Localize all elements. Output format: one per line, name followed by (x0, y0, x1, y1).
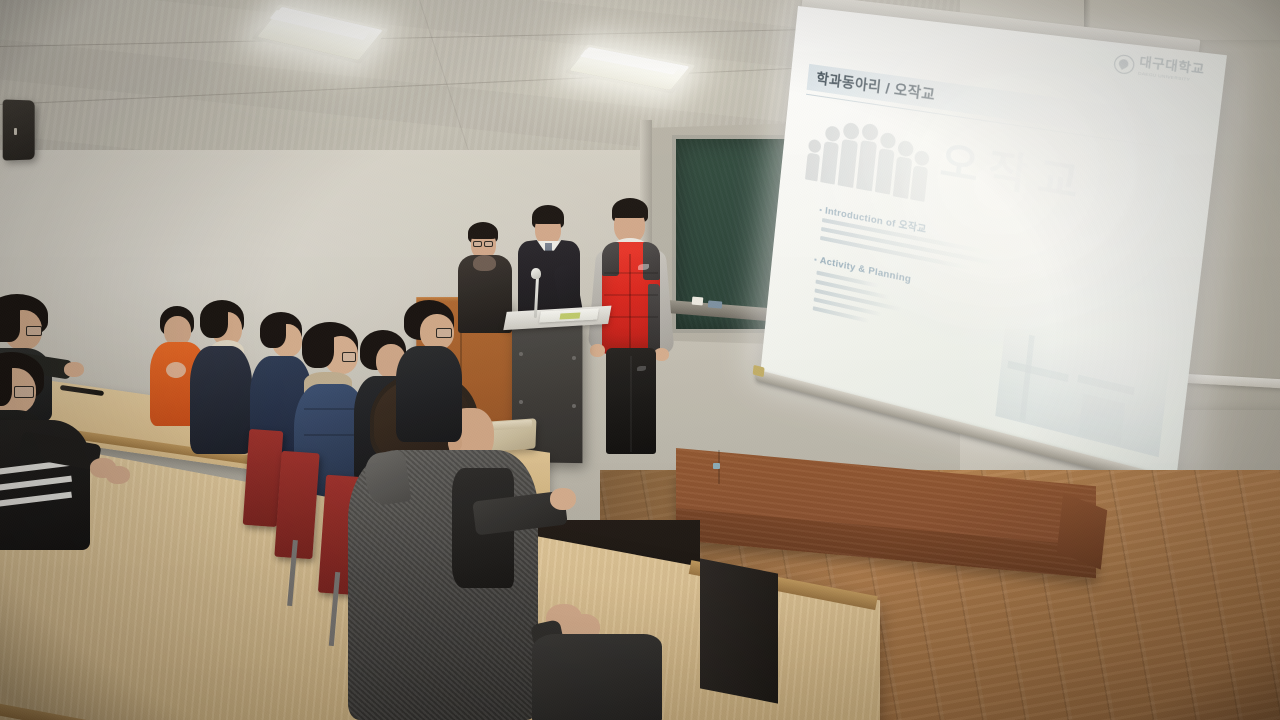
vest-quilt (604, 316, 658, 318)
vest-quilt (604, 272, 658, 274)
presenter-left-glasses (473, 241, 482, 247)
presenter-left-fringe (469, 228, 497, 239)
podium-screw (572, 404, 576, 408)
hoodie-drawstring (166, 362, 186, 378)
audience-glasses (14, 386, 34, 398)
presenter-red-vest (594, 198, 668, 458)
foreground-hand (550, 488, 576, 510)
chalk-icon (692, 297, 704, 306)
leg-seam (630, 356, 632, 452)
presenter-podium-fringe (533, 212, 563, 224)
slide-secondary-photo (995, 319, 1171, 457)
audience-glasses (26, 326, 42, 336)
pants-logo-icon (637, 366, 646, 371)
wall-speaker-icon (3, 99, 35, 160)
audience-hand (106, 466, 130, 484)
presenter-red-vest-hand-left (590, 344, 605, 357)
vest-quilt (604, 294, 658, 296)
vest-logo-icon (638, 264, 649, 270)
podium-green-note (560, 312, 581, 319)
presenter-red-vest-hand-right (654, 348, 669, 361)
podium-screw (572, 356, 576, 360)
slide-logo: 대구대학교 DAEGU UNIVERSITY (1113, 54, 1205, 84)
audience-glasses (342, 352, 356, 362)
slide-surface: 대구대학교 DAEGU UNIVERSITY 학과동아리 / 오작교 (761, 6, 1227, 478)
slide-title: 학과동아리 / 오작교 (815, 68, 936, 105)
podium-screw (519, 352, 523, 356)
presenter-red-vest-shoulder-left (602, 242, 619, 276)
foreground-lap (532, 634, 662, 720)
presenter-red-vest-fringe (612, 206, 646, 218)
table-leg (700, 558, 778, 703)
audience-glasses (436, 328, 452, 338)
vest-zipper (629, 254, 631, 350)
podium-screw (519, 400, 523, 404)
presenter-red-vest-shoulder-right (643, 242, 660, 280)
stage-platform-marker (713, 463, 720, 469)
classroom-photo: 대구대학교 DAEGU UNIVERSITY 학과동아리 / 오작교 (0, 0, 1280, 720)
wall-speaker-led (14, 128, 17, 135)
slide-headline-word: 오작교 (938, 129, 1093, 213)
presenter-left-glasses (484, 241, 493, 247)
microphone-icon (531, 268, 541, 279)
slide-group-photo (805, 107, 934, 202)
eraser-icon (708, 300, 723, 308)
university-emblem-icon (1113, 54, 1135, 75)
presenter-left-scarf (473, 255, 496, 271)
audience-hand (64, 362, 84, 377)
slide-bullets-2 (812, 271, 936, 343)
